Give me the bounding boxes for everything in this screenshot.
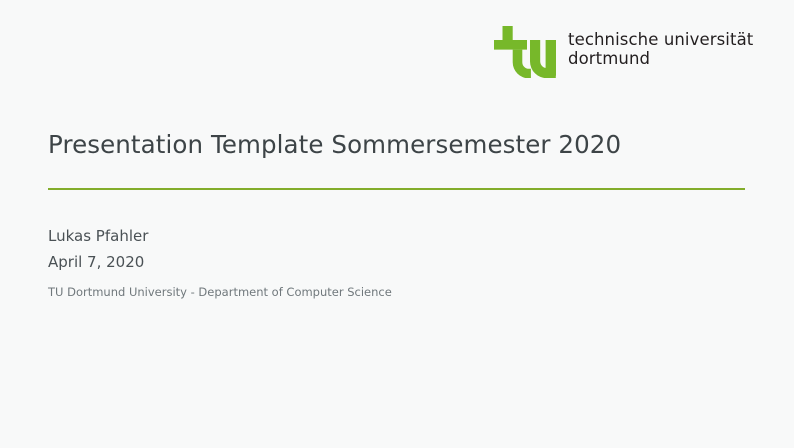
author-name: Lukas Pfahler — [48, 229, 748, 244]
tu-monogram-icon — [494, 26, 556, 78]
presentation-date: April 7, 2020 — [48, 255, 748, 270]
wordmark-line-university: technische universität — [568, 30, 753, 49]
wordmark-line-city: dortmund — [568, 49, 753, 68]
title-separator-rule — [48, 188, 745, 190]
title-slide: technische universität dortmund Presenta… — [0, 0, 794, 448]
institute-affiliation: TU Dortmund University - Department of C… — [48, 287, 748, 299]
tu-dortmund-logo: technische universität dortmund — [494, 26, 753, 78]
tu-dortmund-wordmark: technische universität dortmund — [568, 30, 753, 69]
title-meta-block: Lukas Pfahler April 7, 2020 TU Dortmund … — [48, 229, 748, 299]
slide-title: Presentation Template Sommersemester 202… — [48, 130, 748, 159]
